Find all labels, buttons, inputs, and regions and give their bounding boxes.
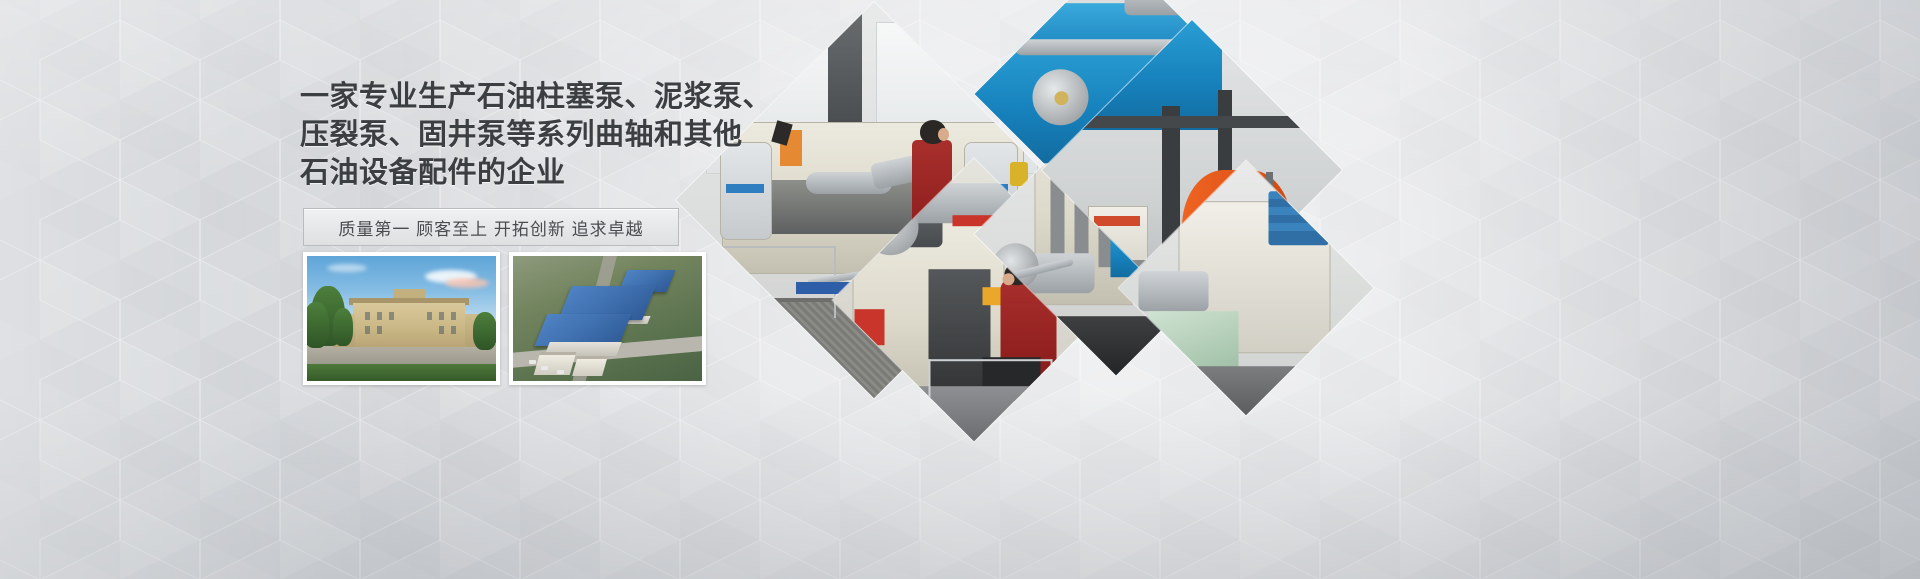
office-building-photo[interactable] (303, 252, 500, 385)
machine-column (828, 2, 862, 134)
vehicle-shape (541, 366, 548, 370)
building-window (427, 312, 432, 320)
building-window (451, 312, 456, 320)
thumbnail-strip (303, 252, 706, 385)
tree-shape (473, 312, 497, 350)
slogan-box: 质量第一 顾客至上 开拓创新 追求卓越 (303, 208, 679, 246)
office-block (534, 352, 577, 375)
hedge-row (307, 364, 496, 381)
blue-label (726, 184, 764, 193)
building-window (365, 326, 370, 334)
building-window (389, 312, 394, 320)
workshop-floor (1119, 366, 1374, 415)
machine-fixture (1125, 0, 1205, 15)
vehicle-shape (557, 370, 564, 374)
headline-block: 一家专业生产石油柱塞泵、泥浆泵、 压裂泵、固井泵等系列曲轴和其他 石油设备配件的… (300, 78, 730, 192)
vehicle-shape (529, 360, 536, 364)
building-window (365, 312, 370, 320)
steel-parts (1139, 271, 1209, 311)
building-window (439, 312, 444, 320)
office-block (572, 356, 608, 376)
safety-railing (929, 359, 1053, 403)
tree-shape (333, 308, 353, 346)
worker-face (1003, 273, 1015, 285)
building-window (451, 326, 456, 334)
factory-aerial-image (513, 256, 702, 381)
factory-aerial-photo[interactable] (509, 252, 706, 385)
building-facade (353, 303, 465, 347)
headline-line-1: 一家专业生产石油柱塞泵、泥浆泵、 (300, 78, 730, 116)
worker-face (938, 128, 949, 141)
hero-banner: 一家专业生产石油柱塞泵、泥浆泵、 压裂泵、固井泵等系列曲轴和其他 石油设备配件的… (0, 0, 1920, 579)
building-window (377, 312, 382, 320)
slogan-text: 质量第一 顾客至上 开拓创新 追求卓越 (338, 215, 643, 240)
headline-line-2: 压裂泵、固井泵等系列曲轴和其他 (300, 116, 730, 154)
building-window (439, 326, 444, 334)
office-building-image (307, 256, 496, 381)
building-window (377, 326, 382, 334)
tree-shape (303, 302, 329, 348)
hub-cap (1055, 91, 1069, 105)
cloud-shape (445, 278, 489, 288)
headline-line-3: 石油设备配件的企业 (300, 154, 730, 192)
diamond-photo-collage (694, 22, 1334, 422)
cabinet-label (1094, 216, 1140, 226)
green-bin (1149, 311, 1239, 371)
cloud-shape (327, 264, 367, 272)
